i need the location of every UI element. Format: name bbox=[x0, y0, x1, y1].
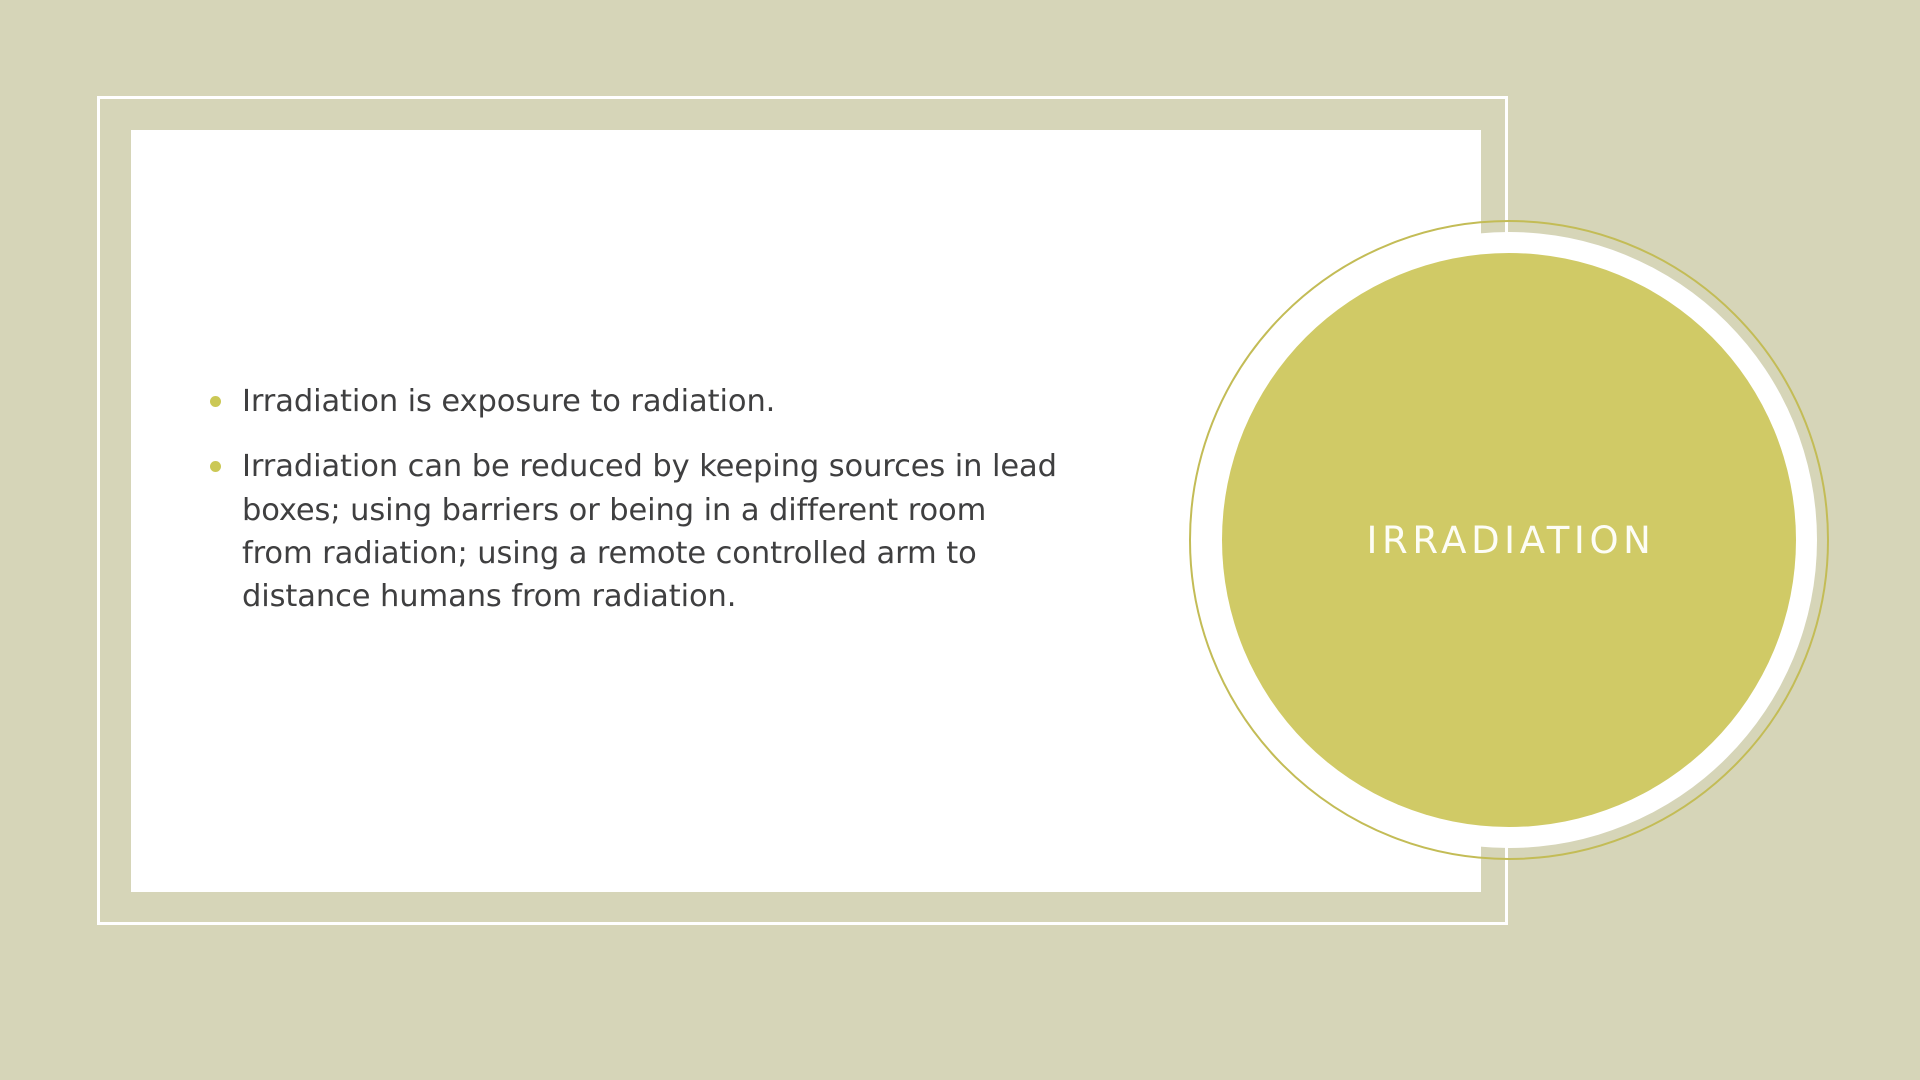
page-title: IRRADIATION bbox=[1189, 220, 1829, 860]
list-item: Irradiation is exposure to radiation. bbox=[210, 380, 1065, 423]
title-circle: IRRADIATION bbox=[1189, 220, 1829, 860]
list-item-text: Irradiation is exposure to radiation. bbox=[242, 380, 1065, 423]
bullet-dot-icon bbox=[210, 461, 221, 472]
bullet-dot-icon bbox=[210, 396, 221, 407]
bullet-list: Irradiation is exposure to radiation. Ir… bbox=[210, 380, 1065, 618]
slide-canvas: Irradiation is exposure to radiation. Ir… bbox=[0, 0, 1920, 1080]
list-item: Irradiation can be reduced by keeping so… bbox=[210, 445, 1065, 618]
list-item-text: Irradiation can be reduced by keeping so… bbox=[242, 445, 1065, 618]
